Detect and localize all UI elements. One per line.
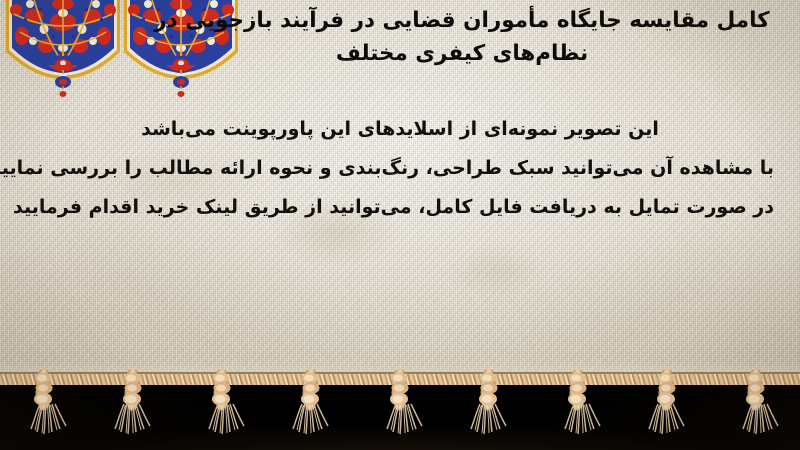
tassel	[452, 370, 526, 450]
tassel	[185, 370, 259, 450]
tassel	[719, 370, 793, 450]
title-line-2: نظام‌های کیفری مختلف	[150, 37, 774, 70]
carpet-tassel-fringe	[0, 370, 800, 450]
tassel	[274, 370, 348, 450]
tassel	[7, 370, 81, 450]
presentation-slide: کامل مقایسه جایگاه مأموران قضایی در فرآی…	[0, 0, 800, 450]
tassel	[96, 370, 170, 450]
slide-text-layer: کامل مقایسه جایگاه مأموران قضایی در فرآی…	[0, 0, 800, 375]
tassel	[630, 370, 704, 450]
body-line-3: در صورت تمایل به دریافت فایل کامل، می‌تو…	[26, 188, 774, 227]
body-line-2: با مشاهده آن می‌توانید سبک طراحی، رنگ‌بن…	[26, 149, 774, 188]
slide-title: کامل مقایسه جایگاه مأموران قضایی در فرآی…	[0, 4, 800, 70]
body-line-1: این تصویر نمونه‌ای از اسلایدهای این پاور…	[26, 110, 774, 149]
tassel	[541, 370, 615, 450]
title-line-1: کامل مقایسه جایگاه مأموران قضایی در فرآی…	[150, 4, 774, 37]
slide-body: این تصویر نمونه‌ای از اسلایدهای این پاور…	[0, 110, 800, 227]
tassel	[363, 370, 437, 450]
